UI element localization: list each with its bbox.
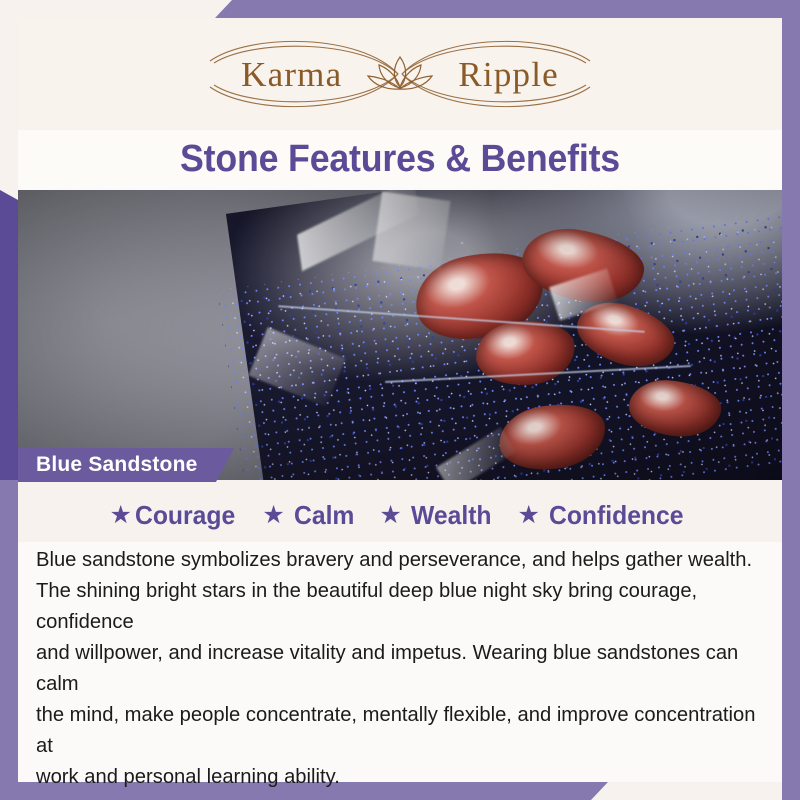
photo-vignette	[18, 190, 782, 480]
frame-band-right	[782, 0, 800, 800]
benefit-item-confidence: ★ Confidence	[518, 500, 691, 531]
infographic-page: Karma Ripple Stone Features & Benefits B…	[0, 0, 800, 800]
frame-band-left-lower	[0, 480, 18, 800]
brand-name-left: Karma	[241, 57, 342, 92]
frame-band-top	[215, 0, 800, 18]
benefit-label: Confidence	[549, 500, 683, 531]
product-photo	[18, 190, 782, 480]
benefit-label: Wealth	[411, 500, 492, 531]
brand-header: Karma Ripple	[18, 18, 782, 130]
stone-name-label: Blue Sandstone	[18, 453, 198, 477]
star-icon: ★	[109, 503, 131, 528]
benefit-item-calm: ★ Calm	[262, 500, 357, 531]
benefit-label: Courage	[135, 500, 235, 531]
brand-name-right: Ripple	[458, 57, 559, 92]
page-title: Stone Features & Benefits	[180, 138, 620, 181]
star-icon: ★	[262, 503, 284, 528]
star-icon: ★	[379, 503, 401, 528]
description-text: Blue sandstone symbolizes bravery and pe…	[36, 544, 768, 792]
description-line-2: The shining bright stars in the beautifu…	[36, 575, 757, 637]
description-line-3: and willpower, and increase vitality and…	[36, 637, 757, 699]
description-line-4: the mind, make people concentrate, menta…	[36, 699, 757, 761]
frame-band-left-photo	[0, 190, 18, 480]
section-title-panel: Stone Features & Benefits	[18, 130, 782, 188]
benefit-label: Calm	[294, 500, 354, 531]
brand-logo: Karma Ripple	[190, 35, 610, 113]
benefit-list: ★ Courage ★ Calm ★ Wealth ★ Confidence	[18, 480, 782, 542]
description-section: ★ Courage ★ Calm ★ Wealth ★ Confidence B…	[18, 480, 782, 782]
benefit-item-courage: ★ Courage	[109, 500, 240, 531]
status-badge: Blue Sandstone	[18, 448, 234, 482]
description-line-5: work and personal learning ability.	[36, 761, 757, 792]
benefit-item-wealth: ★ Wealth	[379, 500, 495, 531]
description-line-1: Blue sandstone symbolizes bravery and pe…	[36, 544, 757, 575]
star-icon: ★	[518, 503, 540, 528]
